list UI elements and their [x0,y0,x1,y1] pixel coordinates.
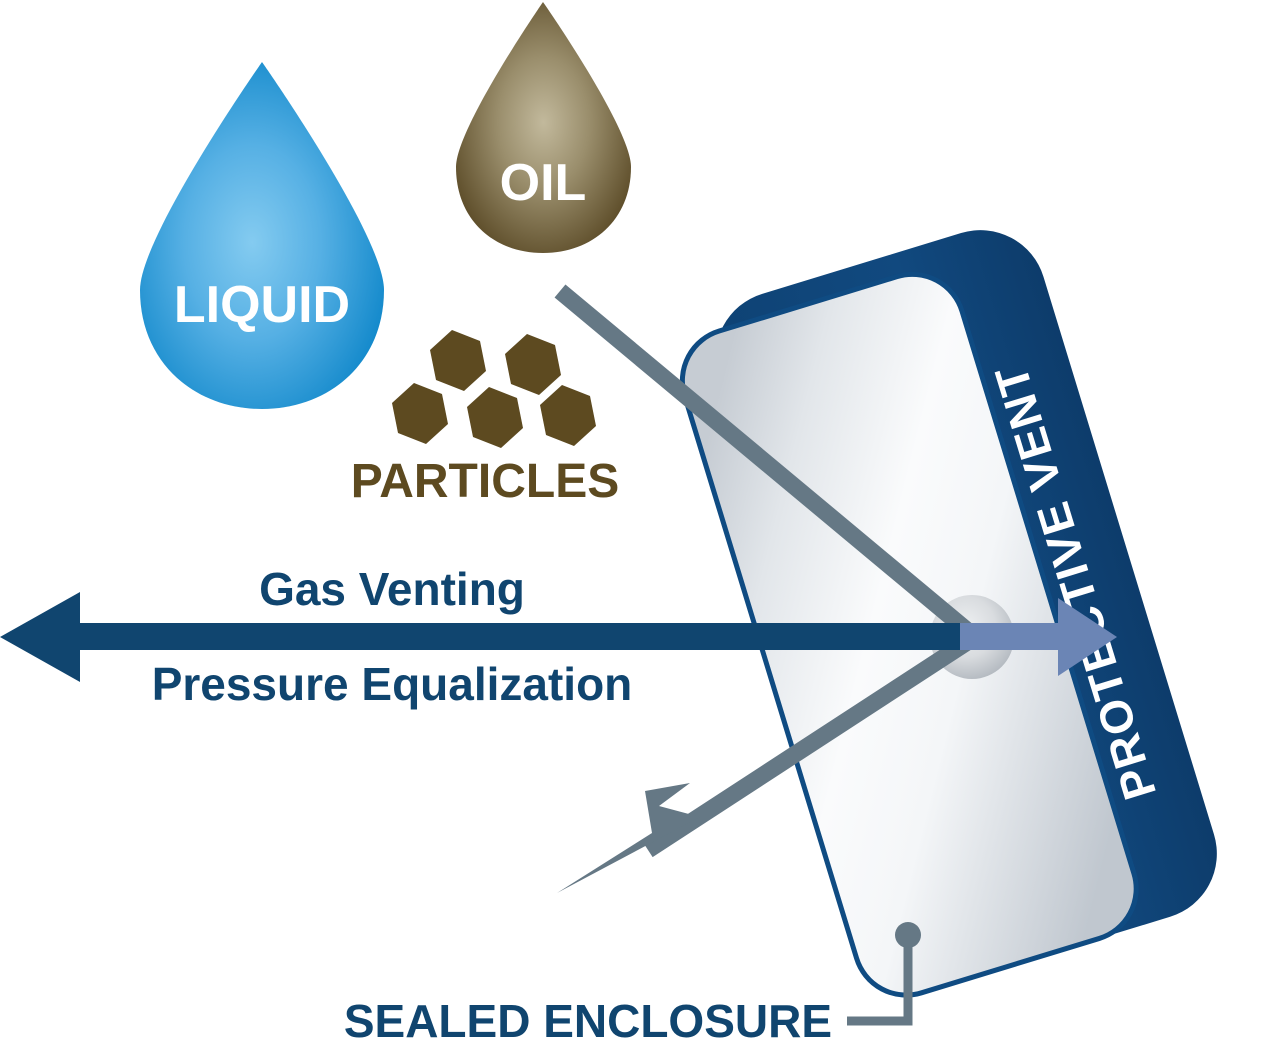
diagram-canvas: PROTECTIVE VENT LIQUID [0,0,1280,1055]
particle-hexagon-icon [505,334,561,395]
liquid-drop-label: LIQUID [174,276,350,334]
sealed-enclosure-label: SEALED ENCLOSURE [344,995,832,1047]
pressure-equalization-label: Pressure Equalization [152,658,633,710]
gas-venting-arrow-shaft [78,623,978,650]
particles-label: PARTICLES [351,455,619,508]
sealed-enclosure-callout-group: SEALED ENCLOSURE [344,922,921,1047]
particles-cluster-group: PARTICLES [351,330,619,508]
particle-hexagon-icon [430,330,486,391]
inward-arrow-shaft [960,623,1070,650]
gas-venting-label: Gas Venting [259,563,525,615]
oil-drop-group: OIL [456,2,631,253]
particle-hexagon-icon [467,387,523,448]
callout-anchor-dot-icon [895,922,921,948]
particle-hexagon-icon [540,385,596,446]
liquid-drop-group: LIQUID [140,62,384,409]
oil-drop-shape [456,2,631,253]
protective-vent-diagram: PROTECTIVE VENT LIQUID [0,0,1280,1055]
particle-hexagon-icon [392,383,448,444]
gas-venting-arrowhead-icon [0,592,80,682]
liquid-drop-shape [140,62,384,409]
oil-drop-label: OIL [500,154,587,212]
